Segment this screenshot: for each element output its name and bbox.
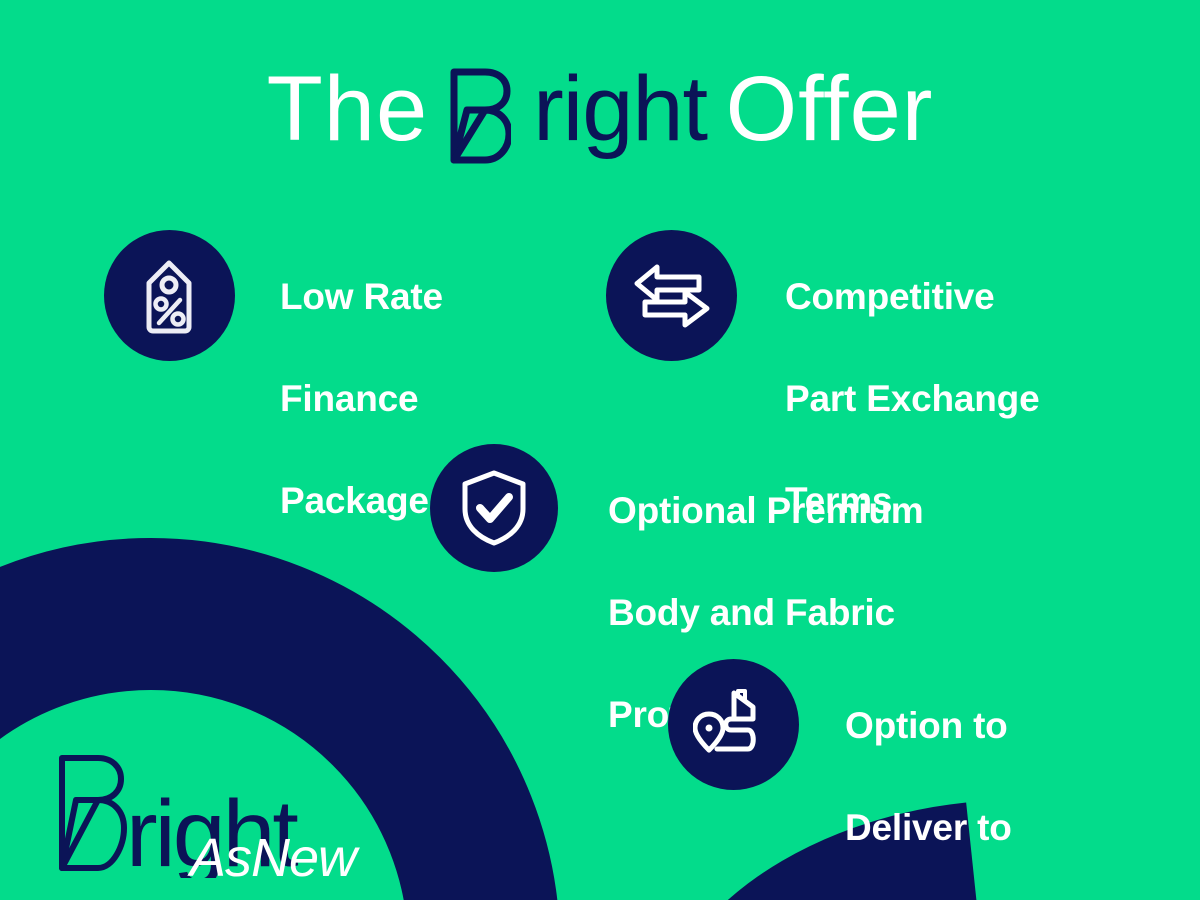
brand-b-mark-icon bbox=[62, 758, 124, 868]
feature-label: Option to Deliver to Your Home bbox=[845, 649, 1038, 900]
brand-logo-bright-as-new: right AsNew bbox=[50, 748, 380, 878]
shield-check-icon bbox=[430, 444, 558, 572]
feature-label: Low Rate Finance Package bbox=[280, 220, 443, 577]
title-brand-tail: right bbox=[533, 58, 707, 160]
feature-label-line: Low Rate bbox=[280, 271, 443, 322]
feature-label-line: Finance bbox=[280, 373, 443, 424]
title-prefix: The bbox=[267, 58, 429, 161]
feature-label-line: Body and Fabric bbox=[608, 587, 923, 638]
price-tag-percent-icon bbox=[104, 230, 235, 361]
feature-label-line: Competitive bbox=[785, 271, 1039, 322]
feature-label-line: Deliver to bbox=[845, 802, 1038, 853]
bright-offer-poster: The right Offer Low Rate Finan bbox=[0, 0, 1200, 900]
page-title: The right Offer bbox=[0, 58, 1200, 161]
title-suffix: Offer bbox=[726, 58, 934, 161]
feature-label-line: Part Exchange bbox=[785, 373, 1039, 424]
feature-label-line: Optional Premium bbox=[608, 485, 923, 536]
feature-item-home-delivery: Option to Deliver to Your Home bbox=[668, 659, 1038, 900]
title-brand-bright: right bbox=[447, 58, 708, 161]
brand-logo-secondary-text: AsNew bbox=[187, 828, 360, 878]
feature-label-line: Package bbox=[280, 475, 443, 526]
feature-item-low-rate-finance: Low Rate Finance Package bbox=[104, 230, 443, 577]
delivery-route-home-icon bbox=[668, 659, 799, 790]
feature-label-line: Option to bbox=[845, 700, 1038, 751]
exchange-arrows-icon bbox=[606, 230, 737, 361]
